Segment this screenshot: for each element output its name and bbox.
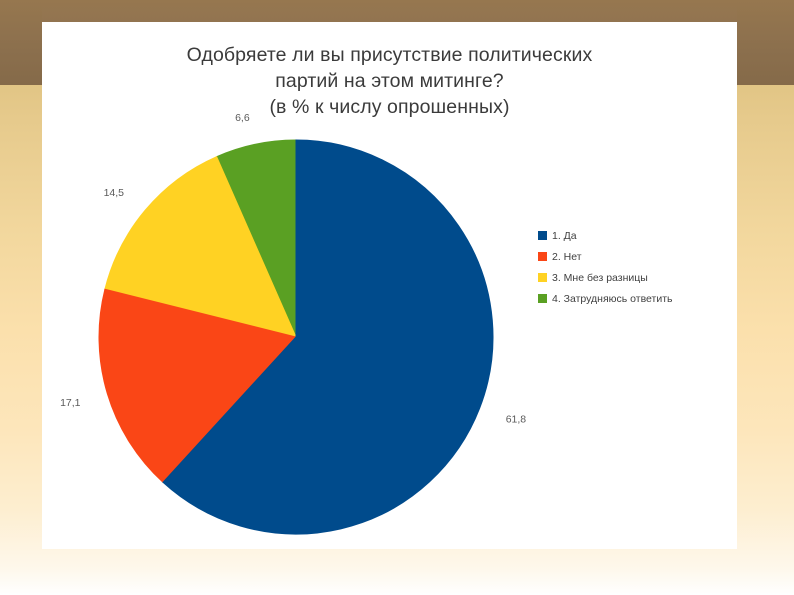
legend-color-swatch [538,231,547,240]
pie-slice-group [99,140,493,534]
pie-slice-label: 14,5 [104,187,125,199]
legend-color-swatch [538,273,547,282]
chart-legend: 1. Да2. Нет3. Мне без разницы4. Затрудня… [538,225,736,309]
pie-slice-label: 17,1 [60,397,81,409]
slide-canvas: Одобряете ли вы присутствие политических… [0,0,794,595]
legend-item-label: 2. Нет [552,251,582,263]
chart-panel: Одобряете ли вы присутствие политических… [42,22,737,549]
legend-item[interactable]: 4. Затрудняюсь ответить [538,288,736,309]
pie-slice-label: 61,8 [506,414,527,426]
slide-background-band-right [737,0,794,85]
pie-slice-label: 6,6 [235,112,250,124]
slide-background-band-left [0,0,42,85]
legend-color-swatch [538,252,547,261]
legend-item-label: 1. Да [552,230,577,242]
legend-item-label: 4. Затрудняюсь ответить [552,293,673,305]
legend-item[interactable]: 3. Мне без разницы [538,267,736,288]
legend-color-swatch [538,294,547,303]
legend-item[interactable]: 1. Да [538,225,736,246]
legend-item[interactable]: 2. Нет [538,246,736,267]
legend-item-label: 3. Мне без разницы [552,272,648,284]
slide-background-band-top [42,0,737,22]
